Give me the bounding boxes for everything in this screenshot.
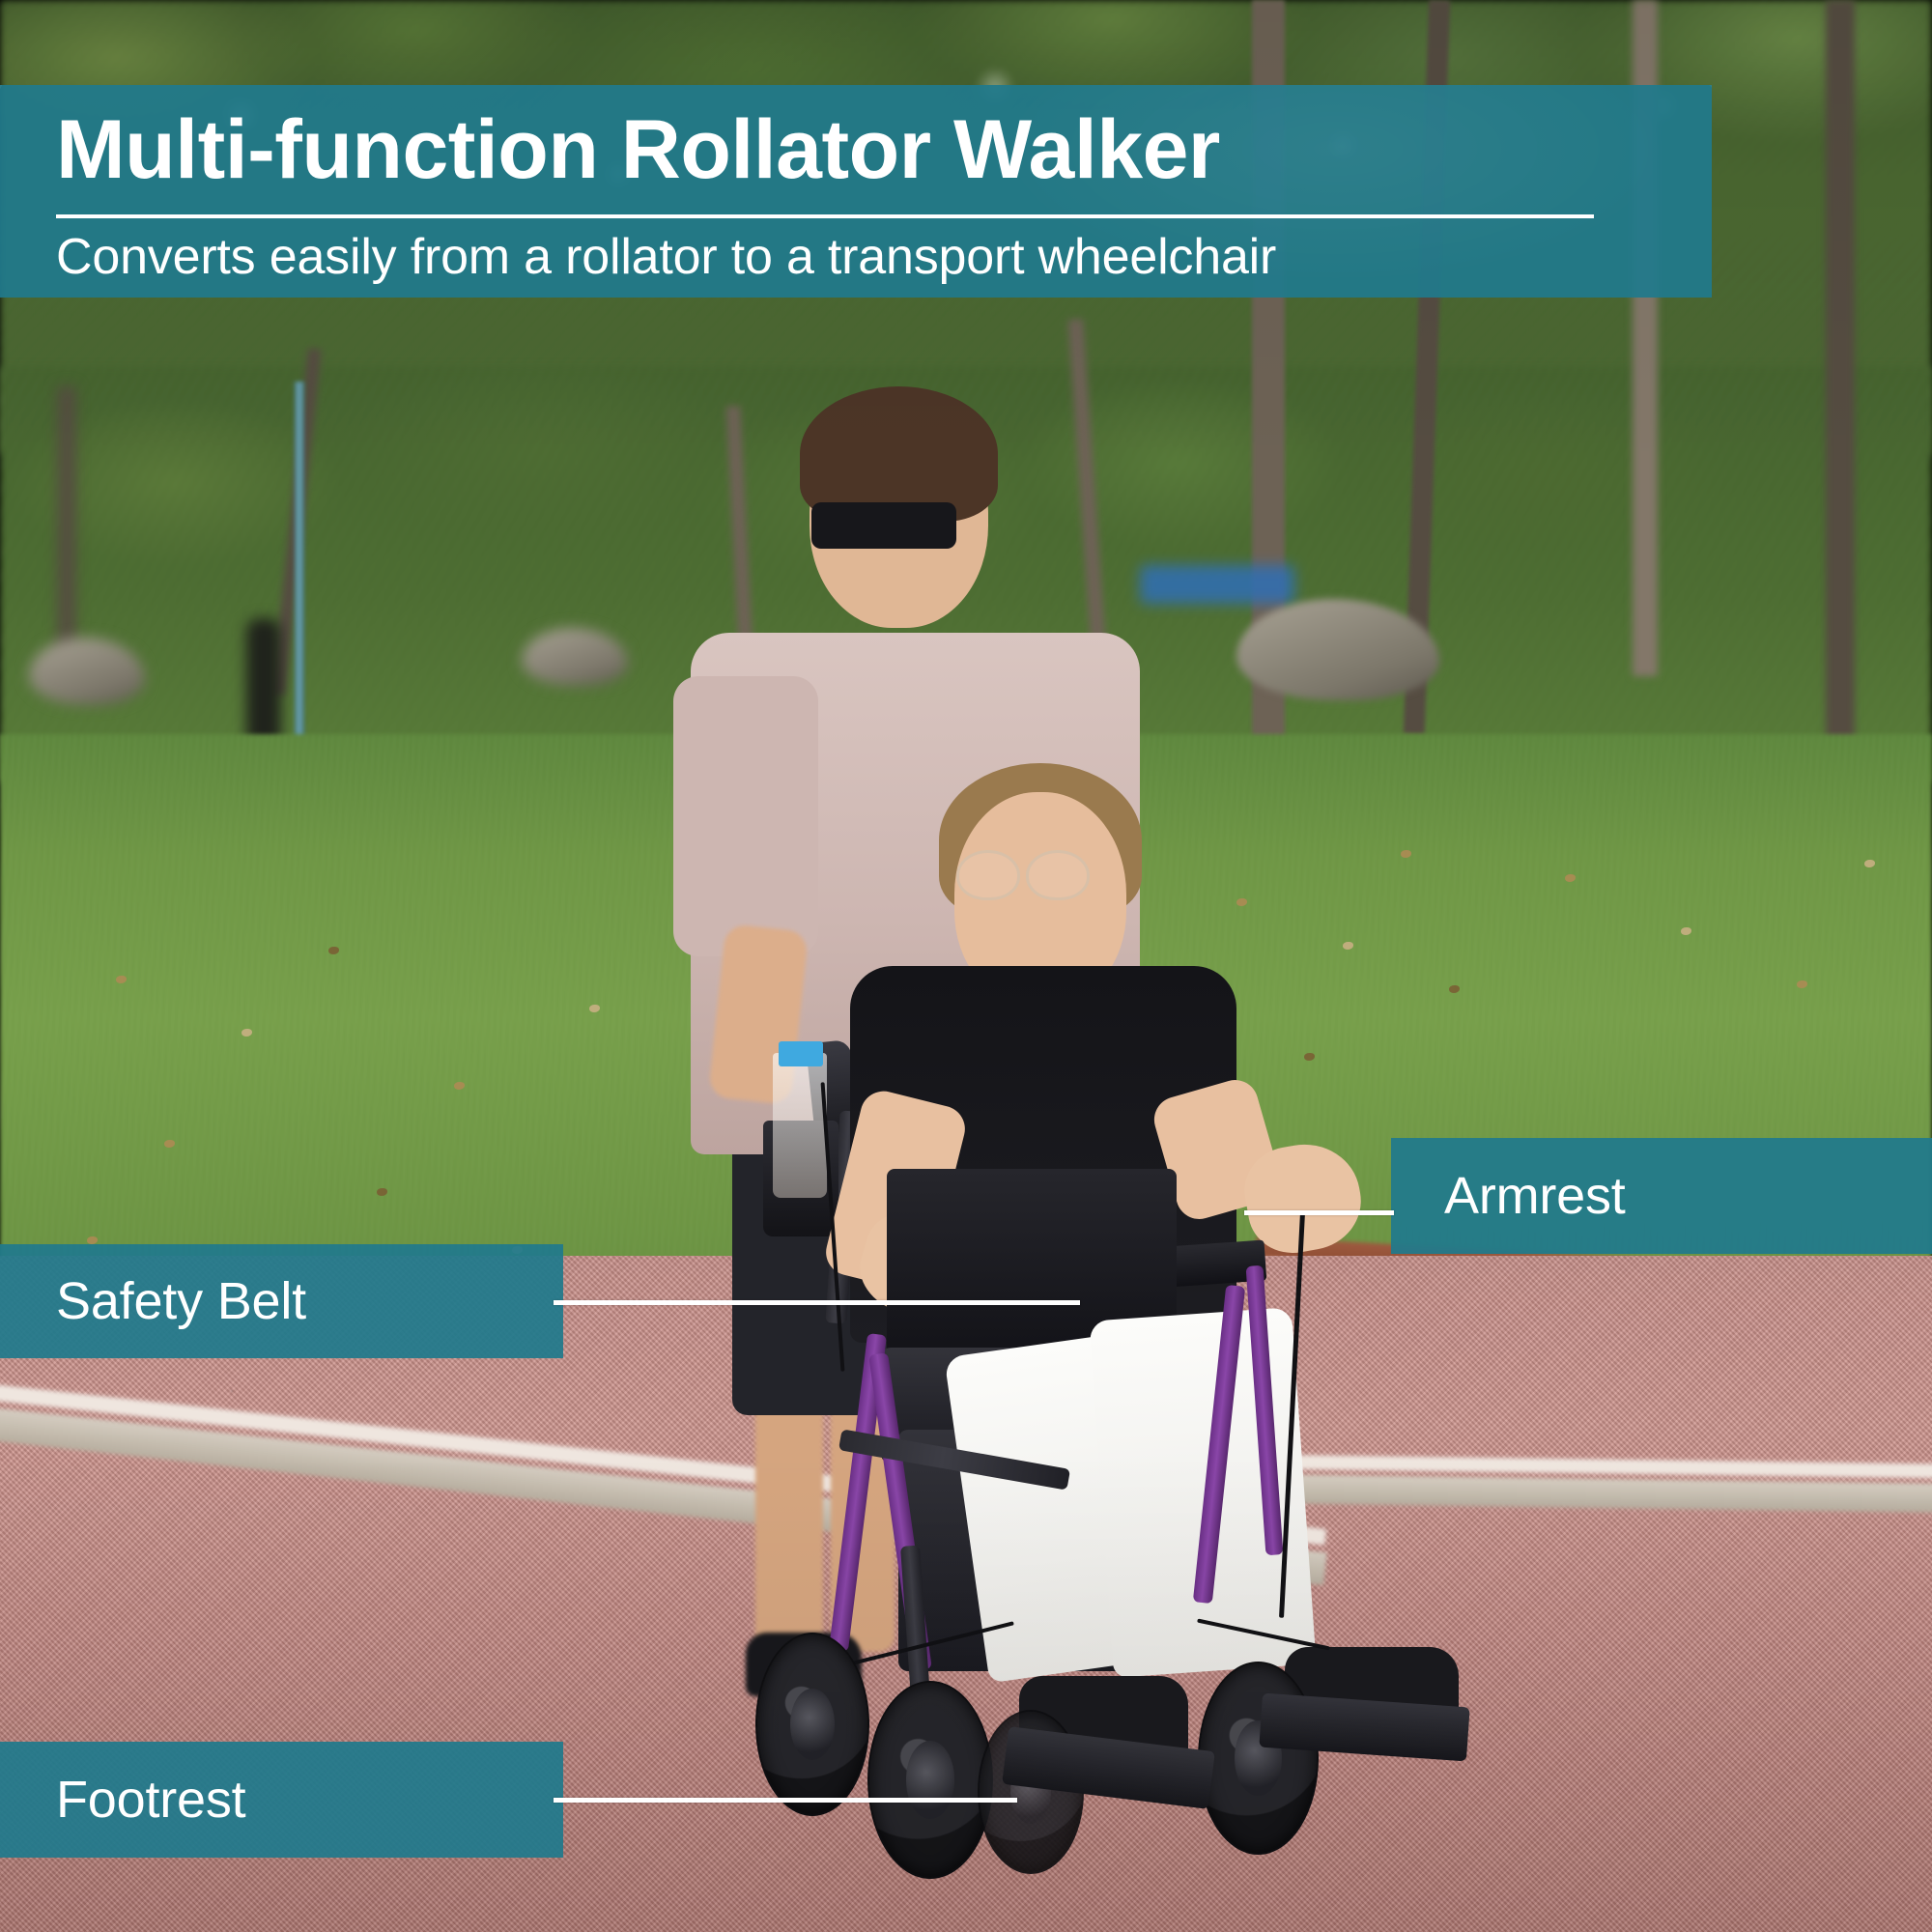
tree-trunk — [1826, 0, 1855, 792]
callout-armrest-label: Armrest — [1444, 1166, 1626, 1226]
caregiver-hair — [800, 386, 998, 522]
caregiver-leg — [755, 1372, 823, 1662]
distant-tarp — [1140, 565, 1294, 604]
rollator-wheel — [755, 1633, 869, 1816]
header-banner: Multi-function Rollator Walker Converts … — [0, 85, 1712, 298]
page-subtitle: Converts easily from a rollator to a tra… — [56, 228, 1276, 286]
eyeglasses-lens — [956, 850, 1020, 900]
water-bottle — [773, 1053, 827, 1198]
callout-armrest: Armrest — [1391, 1138, 1932, 1254]
page-title: Multi-function Rollator Walker — [56, 106, 1220, 193]
rollator-wheel — [1198, 1662, 1319, 1855]
callout-footrest-label: Footrest — [56, 1770, 245, 1830]
callout-safety-belt: Safety Belt — [0, 1244, 563, 1358]
eyeglasses-lens — [1026, 850, 1090, 900]
callout-safety-belt-label: Safety Belt — [56, 1271, 306, 1331]
callout-footrest: Footrest — [0, 1742, 563, 1858]
leader-line-armrest — [1244, 1210, 1394, 1215]
tree-trunk — [58, 386, 75, 676]
banner-divider — [56, 214, 1594, 218]
sunglasses — [811, 502, 956, 549]
bottle-cap — [779, 1041, 823, 1066]
distant-person — [246, 618, 281, 753]
caregiver-sleeve — [673, 676, 818, 956]
leader-line-safety-belt — [554, 1300, 1080, 1305]
rollator-wheel — [867, 1681, 993, 1879]
product-infographic: Multi-function Rollator Walker Converts … — [0, 0, 1932, 1932]
leader-line-footrest — [554, 1798, 1017, 1803]
